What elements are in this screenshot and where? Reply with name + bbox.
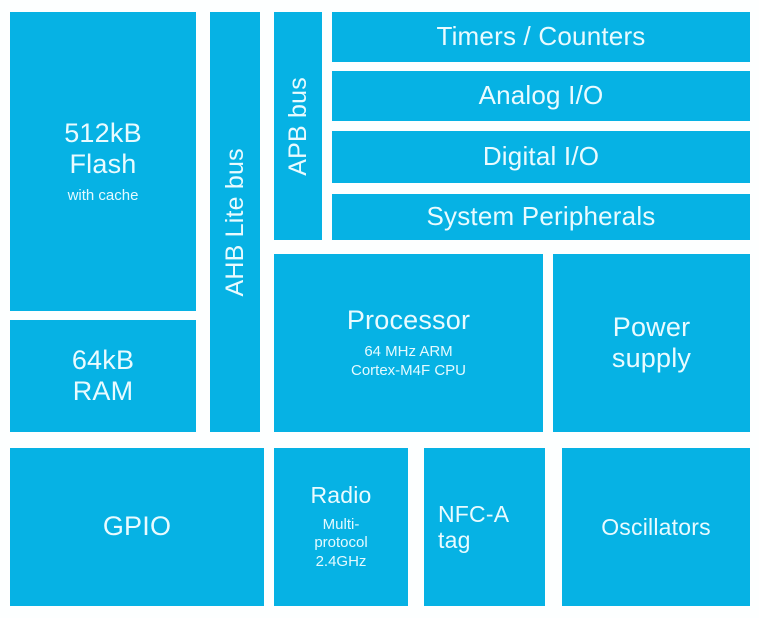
block-analog-io: Analog I/O <box>332 71 750 121</box>
block-flash-title: 512kB Flash <box>64 118 142 180</box>
block-timers-counters-title: Timers / Counters <box>436 22 645 52</box>
block-timers-counters: Timers / Counters <box>332 12 750 62</box>
block-processor-subtitle: 64 MHz ARM Cortex-M4F CPU <box>351 343 466 381</box>
block-flash-subtitle: with cache <box>68 187 139 206</box>
block-analog-io-title: Analog I/O <box>479 81 604 111</box>
block-oscillators: Oscillators <box>562 448 750 606</box>
block-digital-io: Digital I/O <box>332 131 750 183</box>
block-radio-subtitle: Multi- protocol 2.4GHz <box>314 516 367 572</box>
block-system-peripherals: System Peripherals <box>332 194 750 240</box>
block-system-peripherals-title: System Peripherals <box>426 202 655 232</box>
block-ahb-lite-bus: AHB Lite bus <box>210 12 260 432</box>
block-apb-bus: APB bus <box>274 12 322 240</box>
block-gpio: GPIO <box>10 448 264 606</box>
block-ahb-lite-bus-title: AHB Lite bus <box>221 148 250 296</box>
block-digital-io-title: Digital I/O <box>483 142 599 172</box>
block-radio-title: Radio <box>310 482 371 508</box>
block-ram-title: 64kB RAM <box>72 345 134 407</box>
block-oscillators-title: Oscillators <box>601 514 711 540</box>
soc-block-diagram: 512kB Flash with cache 64kB RAM AHB Lite… <box>0 0 759 618</box>
block-processor: Processor 64 MHz ARM Cortex-M4F CPU <box>274 254 543 432</box>
block-power-supply-title: Power supply <box>612 312 691 374</box>
block-flash: 512kB Flash with cache <box>10 12 196 311</box>
block-ram: 64kB RAM <box>10 320 196 432</box>
block-apb-bus-title: APB bus <box>284 77 313 176</box>
block-processor-title: Processor <box>347 305 470 336</box>
block-radio: Radio Multi- protocol 2.4GHz <box>274 448 408 606</box>
block-nfc-a-tag-title: NFC-A tag <box>438 501 509 554</box>
block-power-supply: Power supply <box>553 254 750 432</box>
block-gpio-title: GPIO <box>103 511 171 542</box>
block-nfc-a-tag: NFC-A tag <box>424 448 545 606</box>
